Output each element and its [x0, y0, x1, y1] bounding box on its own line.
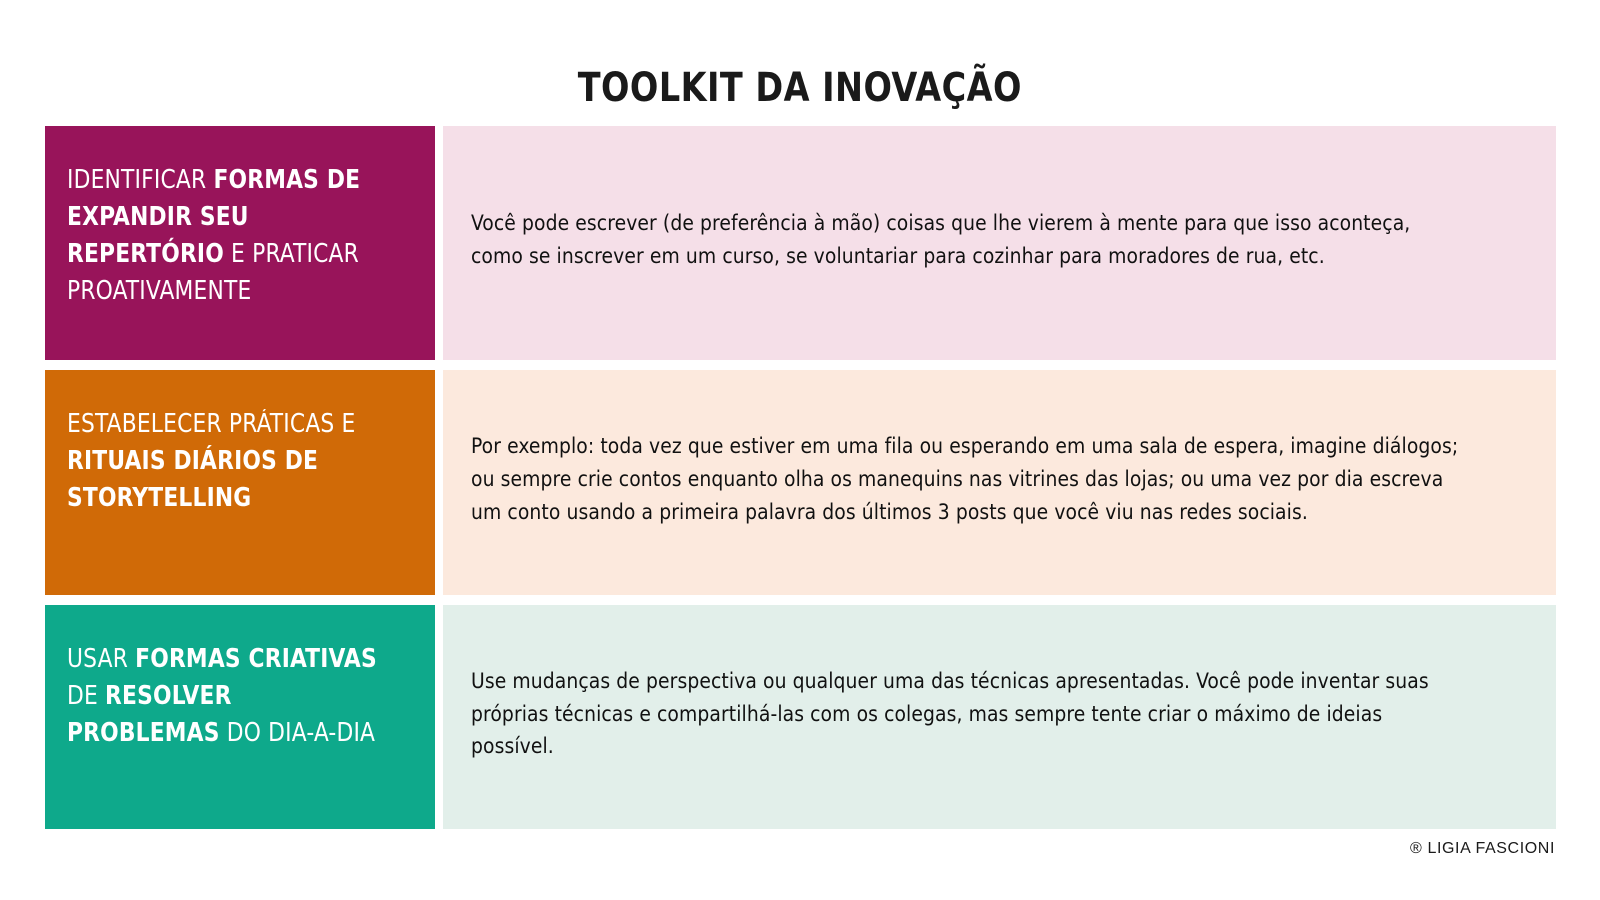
page-title: TOOLKIT DA INOVAÇÃO	[578, 65, 1022, 111]
toolkit-row: USAR FORMAS CRIATIVAS DE RESOLVER PROBLE…	[45, 605, 1556, 829]
row-gap	[435, 605, 443, 829]
row-label-expandir-repertorio: IDENTIFICAR FORMAS DE EXPANDIR SEU REPER…	[45, 126, 435, 360]
toolkit-row: IDENTIFICAR FORMAS DE EXPANDIR SEU REPER…	[45, 126, 1556, 360]
row-label-resolver-problemas: USAR FORMAS CRIATIVAS DE RESOLVER PROBLE…	[45, 605, 435, 829]
row-body-resolver-problemas: Use mudanças de perspectiva ou qualquer …	[443, 605, 1556, 829]
row-gap	[435, 126, 443, 360]
row-label-text: IDENTIFICAR FORMAS DE EXPANDIR SEU REPER…	[67, 162, 392, 310]
row-body-expandir-repertorio: Você pode escrever (de preferência à mão…	[443, 126, 1556, 360]
title-bar: TOOLKIT DA INOVAÇÃO	[0, 38, 1600, 138]
row-label-rituais-storytelling: ESTABELECER PRÁTICAS E RITUAIS DIÁRIOS D…	[45, 370, 435, 595]
row-label-text: USAR FORMAS CRIATIVAS DE RESOLVER PROBLE…	[67, 641, 392, 752]
toolkit-infographic: TOOLKIT DA INOVAÇÃO IDENTIFICAR FORMAS D…	[0, 0, 1600, 900]
toolkit-rows: IDENTIFICAR FORMAS DE EXPANDIR SEU REPER…	[45, 126, 1556, 829]
row-body-rituais-storytelling: Por exemplo: toda vez que estiver em uma…	[443, 370, 1556, 595]
copyright-credit: ® LIGIA FASCIONI	[1410, 840, 1555, 858]
row-label-text: ESTABELECER PRÁTICAS E RITUAIS DIÁRIOS D…	[67, 406, 392, 517]
row-gap	[435, 370, 443, 595]
row-body-text: Por exemplo: toda vez que estiver em uma…	[471, 431, 1465, 529]
row-body-text: Use mudanças de perspectiva ou qualquer …	[471, 666, 1465, 764]
toolkit-row: ESTABELECER PRÁTICAS E RITUAIS DIÁRIOS D…	[45, 370, 1556, 595]
row-body-text: Você pode escrever (de preferência à mão…	[471, 208, 1465, 273]
